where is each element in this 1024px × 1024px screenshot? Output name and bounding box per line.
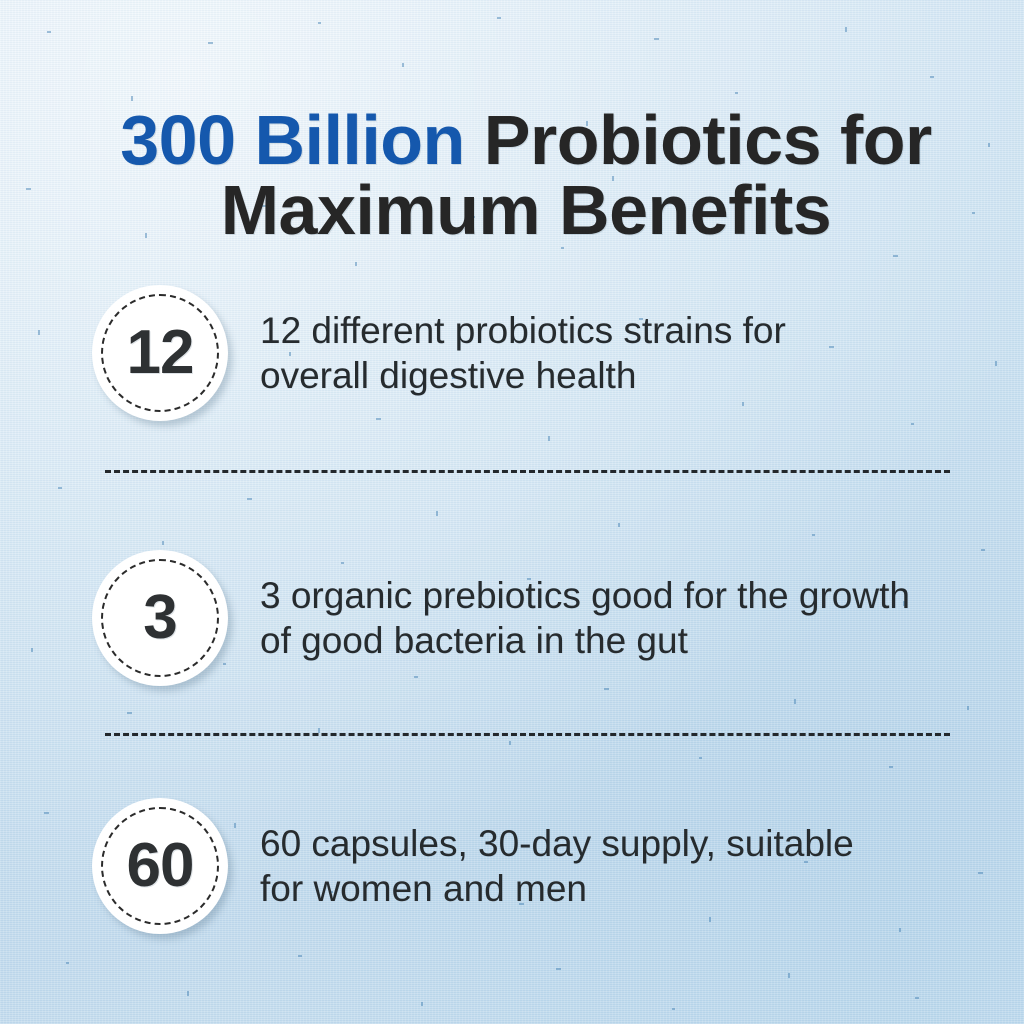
feature-text-line1: 60 capsules, 30-day supply, suitable <box>260 821 854 866</box>
headline-line2: Maximum Benefits <box>86 175 966 245</box>
feature-row: 60 60 capsules, 30-day supply, suitable … <box>92 798 992 934</box>
feature-row: 3 3 organic prebiotics good for the grow… <box>92 550 992 686</box>
feature-text-line2: of good bacteria in the gut <box>260 618 910 663</box>
feature-description: 3 organic prebiotics good for the growth… <box>260 573 910 663</box>
page-title: 300 Billion Probiotics for Maximum Benef… <box>86 105 966 245</box>
feature-description: 60 capsules, 30-day supply, suitable for… <box>260 821 854 911</box>
feature-badge-circle: 12 <box>92 285 228 421</box>
feature-row: 12 12 different probiotics strains for o… <box>92 285 992 421</box>
section-divider <box>105 470 950 473</box>
feature-badge-number: 3 <box>143 587 176 649</box>
section-divider <box>105 733 950 736</box>
feature-text-line1: 12 different probiotics strains for <box>260 308 786 353</box>
headline-rest-line1: Probiotics for <box>465 101 932 179</box>
feature-badge-circle: 60 <box>92 798 228 934</box>
feature-text-line1: 3 organic prebiotics good for the growth <box>260 573 910 618</box>
feature-text-line2: for women and men <box>260 866 854 911</box>
feature-text-line2: overall digestive health <box>260 353 786 398</box>
headline-accent-text: 300 Billion <box>120 101 465 179</box>
feature-badge-number: 12 <box>127 322 194 384</box>
probiotics-infographic: 300 Billion Probiotics for Maximum Benef… <box>0 0 1024 1024</box>
feature-badge-circle: 3 <box>92 550 228 686</box>
feature-description: 12 different probiotics strains for over… <box>260 308 786 398</box>
feature-badge-number: 60 <box>127 835 194 897</box>
